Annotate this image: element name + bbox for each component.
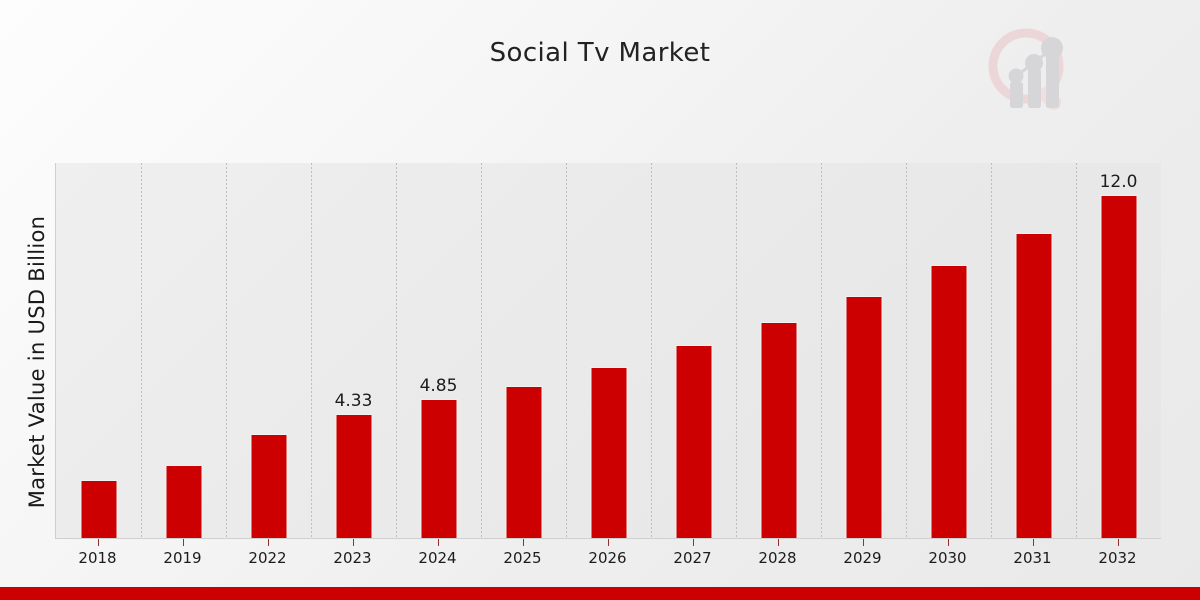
bar-value-label-2024: 4.85	[420, 376, 458, 396]
bar-2027[interactable]	[675, 345, 712, 538]
x-tick-mark-2024	[438, 539, 439, 546]
bar-value-label-2032: 12.0	[1100, 172, 1138, 192]
bar-2028[interactable]	[760, 322, 797, 538]
bar-cell	[736, 163, 821, 538]
bar-2031[interactable]	[1015, 233, 1052, 538]
x-tick-label-2032: 2032	[1098, 549, 1136, 567]
bar-cell	[991, 163, 1076, 538]
x-tick-mark-2032	[1118, 539, 1119, 546]
x-tick-label-2023: 2023	[333, 549, 371, 567]
bar-2026[interactable]	[590, 367, 627, 538]
x-tick-label-2019: 2019	[163, 549, 201, 567]
bar-cell	[821, 163, 906, 538]
bar-value-label-2023: 4.33	[335, 391, 373, 411]
x-tick-mark-2026	[608, 539, 609, 546]
bar-2032[interactable]	[1100, 195, 1137, 539]
x-tick-mark-2031	[1033, 539, 1034, 546]
x-tick-mark-2022	[268, 539, 269, 546]
bar-2019[interactable]	[165, 465, 202, 538]
x-tick-mark-2018	[98, 539, 99, 546]
bar-cell	[56, 163, 141, 538]
market-research-magnifier-logo	[978, 22, 1082, 118]
x-tick-label-2029: 2029	[843, 549, 881, 567]
x-tick-label-2030: 2030	[928, 549, 966, 567]
x-tick-label-2028: 2028	[758, 549, 796, 567]
x-tick-label-2031: 2031	[1013, 549, 1051, 567]
x-tick-mark-2019	[183, 539, 184, 546]
x-tick-label-2027: 2027	[673, 549, 711, 567]
x-tick-label-2026: 2026	[588, 549, 626, 567]
bar-cell	[141, 163, 226, 538]
bar-chart-icon	[1009, 37, 1064, 108]
x-tick-mark-2023	[353, 539, 354, 546]
chart-figure: Social Tv Market Market Value in USD Bil…	[0, 0, 1200, 600]
bar-2030[interactable]	[930, 265, 967, 538]
bar-2029[interactable]	[845, 296, 882, 538]
bar-cell	[226, 163, 311, 538]
y-axis-label: Market Value in USD Billion	[25, 162, 49, 562]
footer-accent-bar	[0, 587, 1200, 600]
x-tick-mark-2029	[863, 539, 864, 546]
x-tick-mark-2030	[948, 539, 949, 546]
x-tick-label-2024: 2024	[418, 549, 456, 567]
x-tick-mark-2028	[778, 539, 779, 546]
bar-cell: 12.0	[1076, 163, 1161, 538]
bar-2022[interactable]	[250, 434, 287, 538]
x-tick-label-2025: 2025	[503, 549, 541, 567]
x-tick-mark-2025	[523, 539, 524, 546]
bar-cell	[481, 163, 566, 538]
bar-cell: 4.85	[396, 163, 481, 538]
bar-cell	[906, 163, 991, 538]
bar-2024[interactable]	[420, 399, 457, 538]
bar-2023[interactable]	[335, 414, 372, 538]
bar-cell	[566, 163, 651, 538]
x-tick-mark-2027	[693, 539, 694, 546]
bar-2025[interactable]	[505, 386, 542, 538]
x-tick-label-2022: 2022	[248, 549, 286, 567]
plot-area: 4.334.8512.0	[55, 163, 1161, 539]
bar-2018[interactable]	[80, 480, 117, 538]
bar-cell: 4.33	[311, 163, 396, 538]
x-tick-label-2018: 2018	[78, 549, 116, 567]
bar-cell	[651, 163, 736, 538]
